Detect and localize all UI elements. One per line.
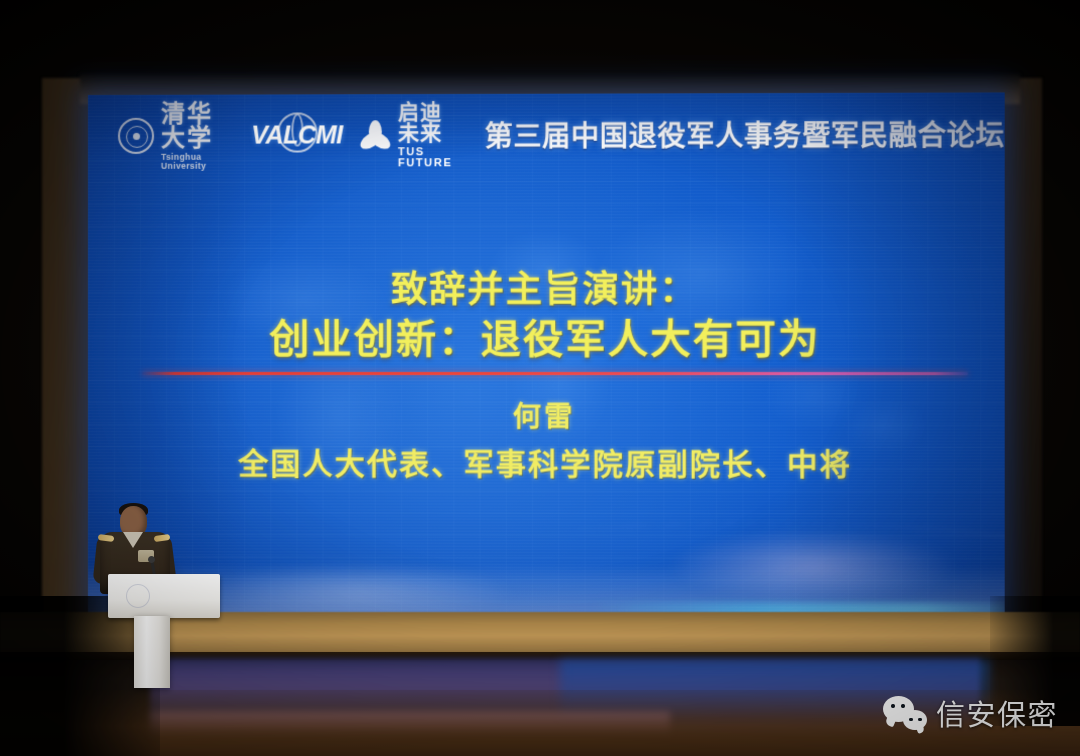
podium-top-panel [108, 574, 220, 618]
speaker-at-podium [78, 498, 238, 678]
valcmi-logo: VALCMI [251, 121, 342, 150]
microphone-head-icon [148, 556, 155, 563]
wechat-icon [883, 696, 927, 730]
photo-canvas: 清华大学 Tsinghua University VALCMI 启迪未来 T [0, 0, 1080, 756]
wechat-watermark: 信安保密 [883, 692, 1058, 734]
podium-emblem-icon [126, 584, 150, 608]
watermark-label: 信安保密 [936, 692, 1058, 734]
valcmi-wordmark: VALCMI [251, 121, 342, 150]
podium-column [134, 616, 170, 688]
